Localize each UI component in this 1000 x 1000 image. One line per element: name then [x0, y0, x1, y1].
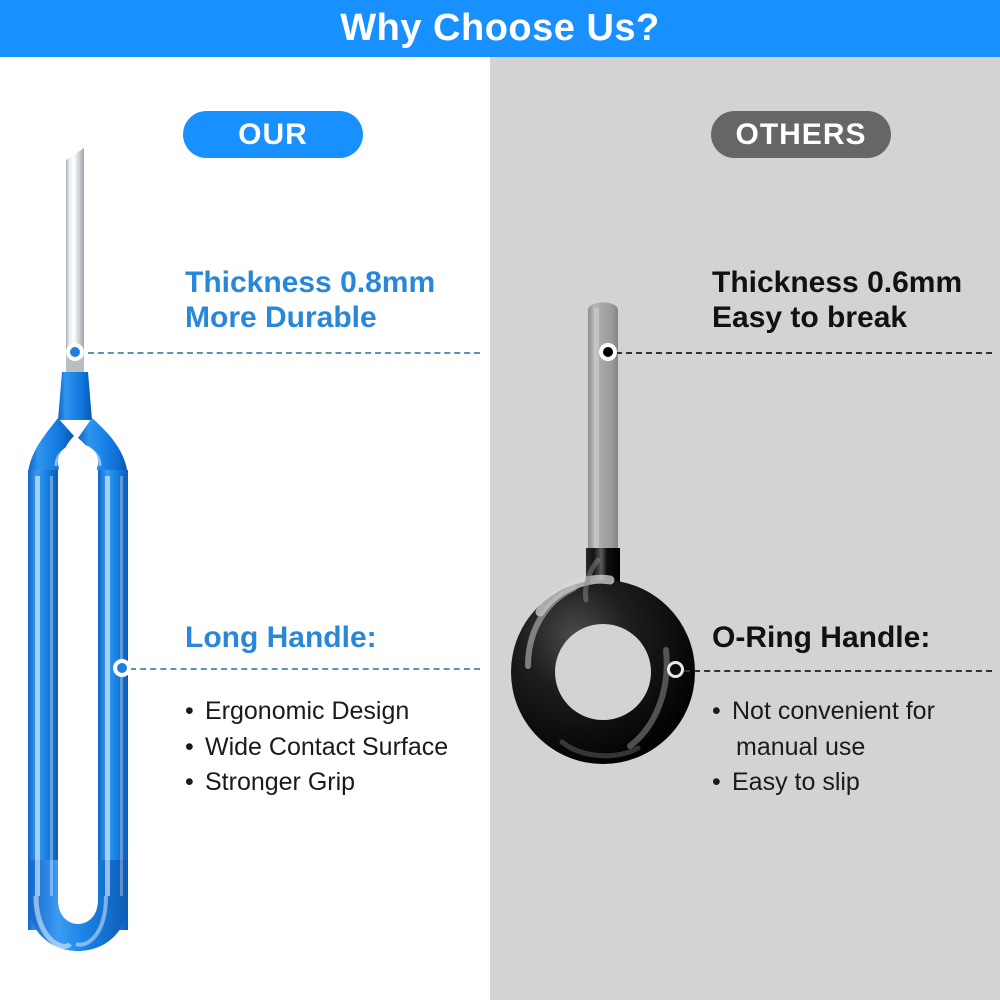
product-image-our	[0, 0, 200, 1000]
list-item: Not convenient for	[712, 694, 982, 730]
marker-dot-our-handle	[113, 659, 131, 677]
callout-others-handle-heading: O-Ring Handle:	[712, 620, 930, 655]
badge-our: OUR	[183, 111, 363, 158]
list-item: Stronger Grip	[185, 765, 475, 801]
leader-line-our-handle	[130, 668, 480, 670]
badge-others-label: OTHERS	[735, 118, 866, 152]
marker-dot-others-ring	[667, 661, 684, 678]
bullet-list-others: Not convenient for manual use Easy to sl…	[712, 694, 982, 801]
bullet-text: Ergonomic Design	[205, 697, 409, 725]
list-item: Wide Contact Surface	[185, 730, 475, 766]
callout-others-thickness: Thickness 0.6mm Easy to break	[712, 265, 1000, 336]
marker-dot-others-blade	[599, 343, 617, 361]
callout-our-handle-heading: Long Handle:	[185, 620, 377, 655]
leader-line-others-thickness	[616, 352, 992, 354]
leader-line-our-thickness	[88, 352, 480, 354]
list-item: Ergonomic Design	[185, 694, 475, 730]
bullet-text: Stronger Grip	[205, 768, 355, 796]
bullet-text: Not convenient for	[732, 697, 935, 725]
bullet-text: Easy to slip	[732, 768, 860, 796]
callout-our-thickness: Thickness 0.8mm More Durable	[185, 265, 485, 336]
infographic-page: Why Choose Us?	[0, 0, 1000, 1000]
blade-shape-others	[588, 303, 618, 561]
badge-others: OTHERS	[711, 111, 891, 158]
bullet-text-wrap: manual use	[732, 730, 982, 766]
leader-line-others-handle	[684, 670, 992, 672]
bullet-list-our: Ergonomic Design Wide Contact Surface St…	[185, 694, 475, 801]
marker-dot-our-blade	[66, 343, 84, 361]
list-item: Easy to slip	[712, 765, 982, 801]
badge-our-label: OUR	[238, 118, 308, 152]
list-item-continuation: manual use	[712, 730, 982, 766]
bullet-text: Wide Contact Surface	[205, 733, 448, 761]
